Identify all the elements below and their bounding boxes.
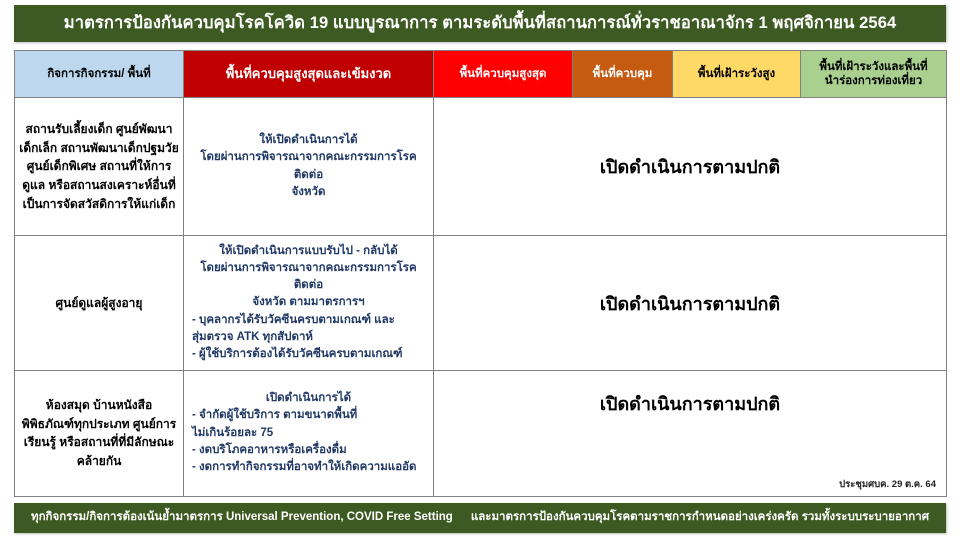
normal-operation-cell: เปิดดำเนินการตามปกติ ประชุมศบค. 29 ต.ค. … [434,370,947,496]
measure-line: จังหวัด [188,184,429,201]
measure-line: - งดบริโภคอาหารหรือเครื่องดื่ม [188,442,429,459]
normal-operation-label: เปิดดำเนินการตามปกติ [438,389,942,418]
measures-table-container: กิจการกิจกรรม/ พื้นที่ พื้นที่ควบคุมสูงส… [14,50,946,497]
footer-bar: ทุกกิจกรรม/กิจการต้องเน้นย้ำมาตรการ Univ… [14,503,946,533]
measures-table: กิจการกิจกรรม/ พื้นที่ พื้นที่ควบคุมสูงส… [14,50,947,497]
normal-operation-cell: เปิดดำเนินการตามปกติ [434,98,947,236]
column-header-yellow-zone: พื้นที่เฝ้าระวังสูง [673,51,801,98]
table-body: สถานรับเลี้ยงเด็ก ศูนย์พัฒนาเด็กเล็ก สถา… [15,98,947,497]
header-row: กิจการกิจกรรม/ พื้นที่ พื้นที่ควบคุมสูงส… [15,51,947,98]
activity-cell: ห้องสมุด บ้านหนังสือ พิพิธภัณฑ์ทุกประเภท… [15,370,184,496]
column-header-orange-zone: พื้นที่ควบคุม [573,51,673,98]
measure-line: - ผู้ใช้บริการต้องได้รับวัคซีนครบตามเกณฑ… [188,346,429,363]
measure-line: - จำกัดผู้ใช้บริการ ตามขนาดพื้นที่ [188,407,429,424]
measure-line: - งดการทำกิจกรรมที่อาจทำให้เกิดความแออัด [188,459,429,476]
measure-line: โดยผ่านการพิจารณาจากคณะกรรมการโรคติดต่อ [188,149,429,184]
meeting-date-note: ประชุมศบค. 29 ต.ค. 64 [839,477,936,492]
page-title: มาตรการป้องกันควบคุมโรคโควิด 19 แบบบูรณา… [64,15,897,32]
measure-line: ให้เปิดดำเนินการแบบรับไป - กลับได้ [188,243,429,260]
normal-operation-label: เปิดดำเนินการตามปกติ [438,289,942,318]
measure-line: สุ่มตรวจ ATK ทุกสัปดาห์ [188,329,429,346]
title-bar: มาตรการป้องกันควบคุมโรคโควิด 19 แบบบูรณา… [14,5,946,42]
table-row: ห้องสมุด บ้านหนังสือ พิพิธภัณฑ์ทุกประเภท… [15,370,947,496]
table-row: ศูนย์ดูแลผู้สูงอายุ ให้เปิดดำเนินการแบบร… [15,236,947,370]
table-row: สถานรับเลี้ยงเด็ก ศูนย์พัฒนาเด็กเล็ก สถา… [15,98,947,236]
measure-line: เปิดดำเนินการได้ [188,390,429,407]
measure-line: โดยผ่านการพิจารณาจากคณะกรรมการโรคติดต่อ [188,260,429,295]
measure-line: ให้เปิดดำเนินการได้ [188,132,429,149]
measure-line: - บุคลากรได้รับวัคซีนครบตามเกณฑ์ และ [188,312,429,329]
normal-operation-cell: เปิดดำเนินการตามปกติ [434,236,947,370]
column-header-green-zone: พื้นที่เฝ้าระวังและพื้นที่ นำร่องการท่อง… [801,51,947,98]
column-header-dark-red-zone: พื้นที่ควบคุมสูงสุดและเข้มงวด [184,51,434,98]
measure-line: ไม่เกินร้อยละ 75 [188,425,429,442]
column-header-green-line1: พื้นที่เฝ้าระวังและพื้นที่ [819,61,927,73]
column-header-activity: กิจการกิจกรรม/ พื้นที่ [15,51,184,98]
measure-cell-dark-red: เปิดดำเนินการได้- จำกัดผู้ใช้บริการ ตามข… [184,370,434,496]
table-header: กิจการกิจกรรม/ พื้นที่ พื้นที่ควบคุมสูงส… [15,51,947,98]
column-header-red-zone: พื้นที่ควบคุมสูงสุด [434,51,573,98]
measure-line: จังหวัด ตามมาตรการฯ [188,294,429,311]
measure-cell-dark-red: ให้เปิดดำเนินการได้โดยผ่านการพิจารณาจากค… [184,98,434,236]
slide-root: มาตรการป้องกันควบคุมโรคโควิด 19 แบบบูรณา… [0,0,960,540]
activity-cell: สถานรับเลี้ยงเด็ก ศูนย์พัฒนาเด็กเล็ก สถา… [15,98,184,236]
measure-cell-dark-red: ให้เปิดดำเนินการแบบรับไป - กลับได้โดยผ่า… [184,236,434,370]
footer-text-left: ทุกกิจกรรม/กิจการต้องเน้นย้ำมาตรการ Univ… [31,512,453,524]
footer-text-right: และมาตรการป้องกันควบคุมโรคตามราชการกำหนด… [471,512,929,524]
normal-operation-label: เปิดดำเนินการตามปกติ [438,152,942,181]
column-header-green-line2: นำร่องการท่องเที่ยว [825,75,922,87]
activity-cell: ศูนย์ดูแลผู้สูงอายุ [15,236,184,370]
